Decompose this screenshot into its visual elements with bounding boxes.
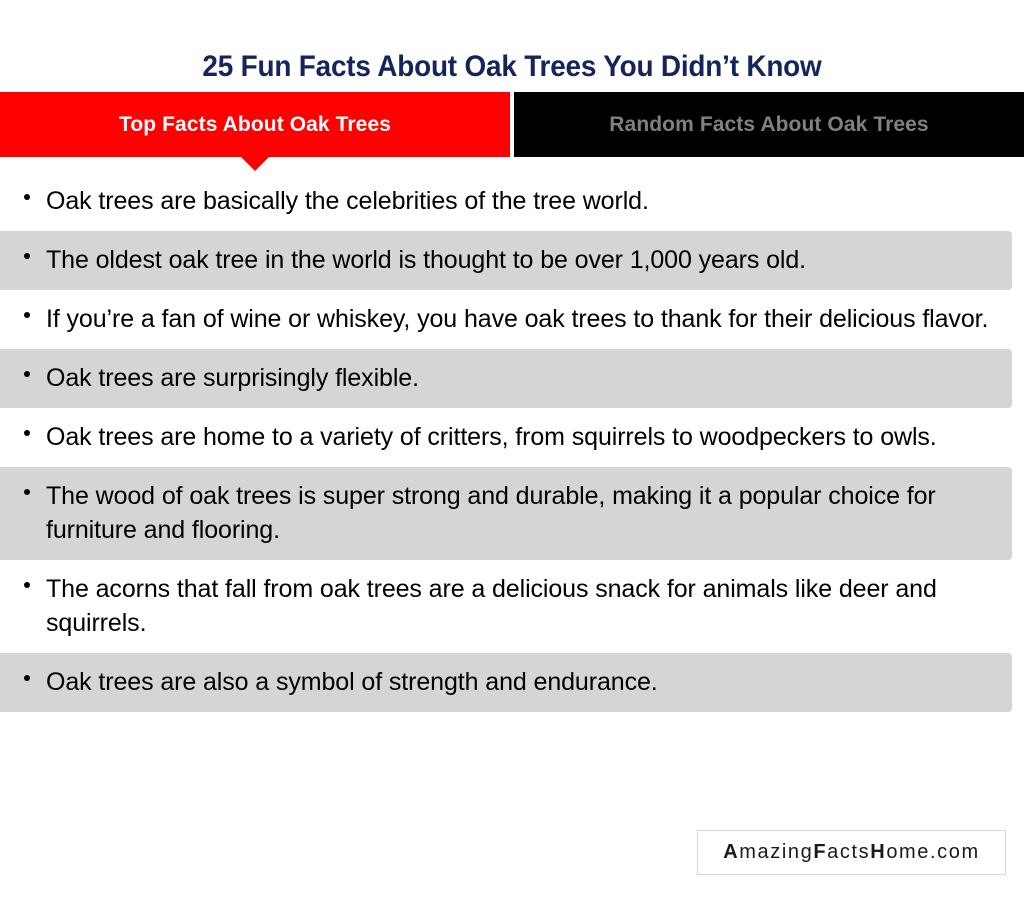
facts-list: Oak trees are basically the celebrities … [0, 172, 1024, 712]
bullet-icon [24, 675, 30, 681]
bullet-icon [24, 253, 30, 259]
tab-top-facts[interactable]: Top Facts About Oak Trees [0, 92, 510, 157]
bullet-icon [24, 194, 30, 200]
fact-text: Oak trees are home to a variety of critt… [46, 420, 996, 454]
fact-item: Oak trees are home to a variety of critt… [0, 408, 1012, 467]
fact-item: The acorns that fall from oak trees are … [0, 560, 1012, 653]
fact-text: If you’re a fan of wine or whiskey, you … [46, 302, 996, 336]
fact-text: The wood of oak trees is super strong an… [46, 479, 996, 547]
fact-item: Oak trees are basically the celebrities … [0, 172, 1012, 231]
bullet-icon [24, 489, 30, 495]
tab-random-facts[interactable]: Random Facts About Oak Trees [514, 92, 1024, 157]
tab-bar: Top Facts About Oak Trees Random Facts A… [0, 92, 1024, 157]
tab-random-facts-label: Random Facts About Oak Trees [609, 113, 928, 137]
fact-item: Oak trees are also a symbol of strength … [0, 653, 1012, 712]
tab-top-facts-label: Top Facts About Oak Trees [119, 113, 391, 137]
infographic-page: 25 Fun Facts About Oak Trees You Didn’t … [0, 0, 1024, 910]
fact-text: Oak trees are surprisingly flexible. [46, 361, 996, 395]
bullet-icon [24, 371, 30, 377]
fact-item: If you’re a fan of wine or whiskey, you … [0, 290, 1012, 349]
fact-text: The acorns that fall from oak trees are … [46, 572, 996, 640]
bullet-icon [24, 312, 30, 318]
bullet-icon [24, 430, 30, 436]
active-tab-pointer-icon [241, 157, 269, 171]
bullet-icon [24, 582, 30, 588]
fact-text: Oak trees are basically the celebrities … [46, 184, 996, 218]
fact-text: Oak trees are also a symbol of strength … [46, 665, 996, 699]
fact-item: The wood of oak trees is super strong an… [0, 467, 1012, 560]
fact-item: The oldest oak tree in the world is thou… [0, 231, 1012, 290]
fact-item: Oak trees are surprisingly flexible. [0, 349, 1012, 408]
page-title: 25 Fun Facts About Oak Trees You Didn’t … [36, 50, 988, 84]
fact-text: The oldest oak tree in the world is thou… [46, 243, 996, 277]
watermark-text: AmazingFactsHome.com [723, 841, 980, 864]
watermark: AmazingFactsHome.com [697, 830, 1006, 875]
